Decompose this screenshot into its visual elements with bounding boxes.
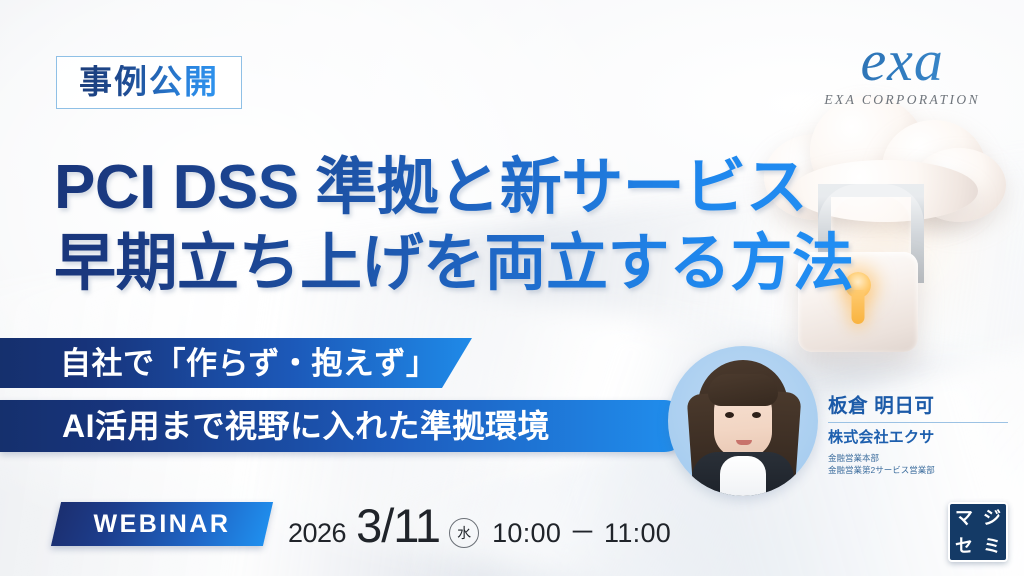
speaker-portrait-illustration	[668, 346, 818, 496]
webinar-tag-label: WEBINAR	[56, 502, 268, 546]
majisemi-char-1: マ	[955, 509, 973, 527]
event-year: 2026	[288, 518, 346, 549]
speaker-company: 株式会社エクサ	[828, 430, 1008, 447]
title-line-1: PCI DSS 準拠と新サービス	[54, 150, 884, 226]
exa-logo-subtitle: EXA CORPORATION	[824, 93, 980, 107]
event-time: 10:00 － 11:00	[492, 511, 671, 550]
speaker-department-line-1: 金融営業本部	[828, 452, 1008, 464]
subtitle-text-1: 自社で「作らず・抱えず」	[0, 348, 437, 379]
speaker-department: 金融営業本部 金融営業第2サービス営業部	[828, 452, 1008, 477]
exa-logo-mark: exa	[824, 32, 980, 90]
event-date: 3/11	[356, 498, 440, 553]
page-title: PCI DSS 準拠と新サービス 早期立ち上げを両立する方法	[54, 150, 884, 303]
webinar-tag: WEBINAR	[51, 502, 273, 546]
event-datetime: 2026 3/11 水 10:00 － 11:00	[288, 498, 671, 553]
webinar-banner: exa EXA CORPORATION 事例公開 PCI DSS 準拠と新サービ…	[0, 0, 1024, 576]
speaker-department-line-2: 金融営業第2サービス営業部	[828, 464, 1008, 476]
speaker-info: 板倉 明日可 株式会社エクサ 金融営業本部 金融営業第2サービス営業部	[828, 396, 1008, 477]
exa-logo: exa EXA CORPORATION	[824, 32, 980, 107]
majisemi-logo: マ ジ セ ミ	[948, 502, 1008, 562]
event-day-of-week: 水	[449, 518, 479, 548]
title-line-2: 早期立ち上げを両立する方法	[54, 226, 884, 302]
case-study-badge-label: 事例公開	[79, 65, 219, 98]
majisemi-char-4: ミ	[983, 537, 1001, 555]
speaker-name: 板倉 明日可	[828, 396, 1008, 423]
subtitle-bar-2: AI活用まで視野に入れた準拠環境	[0, 400, 690, 452]
majisemi-char-2: ジ	[983, 509, 1001, 527]
majisemi-char-3: セ	[955, 537, 973, 555]
case-study-badge: 事例公開	[56, 56, 242, 109]
speaker-avatar	[668, 346, 818, 496]
subtitle-text-2: AI活用まで視野に入れた準拠環境	[0, 410, 550, 442]
subtitle-bar-1: 自社で「作らず・抱えず」	[0, 338, 472, 388]
